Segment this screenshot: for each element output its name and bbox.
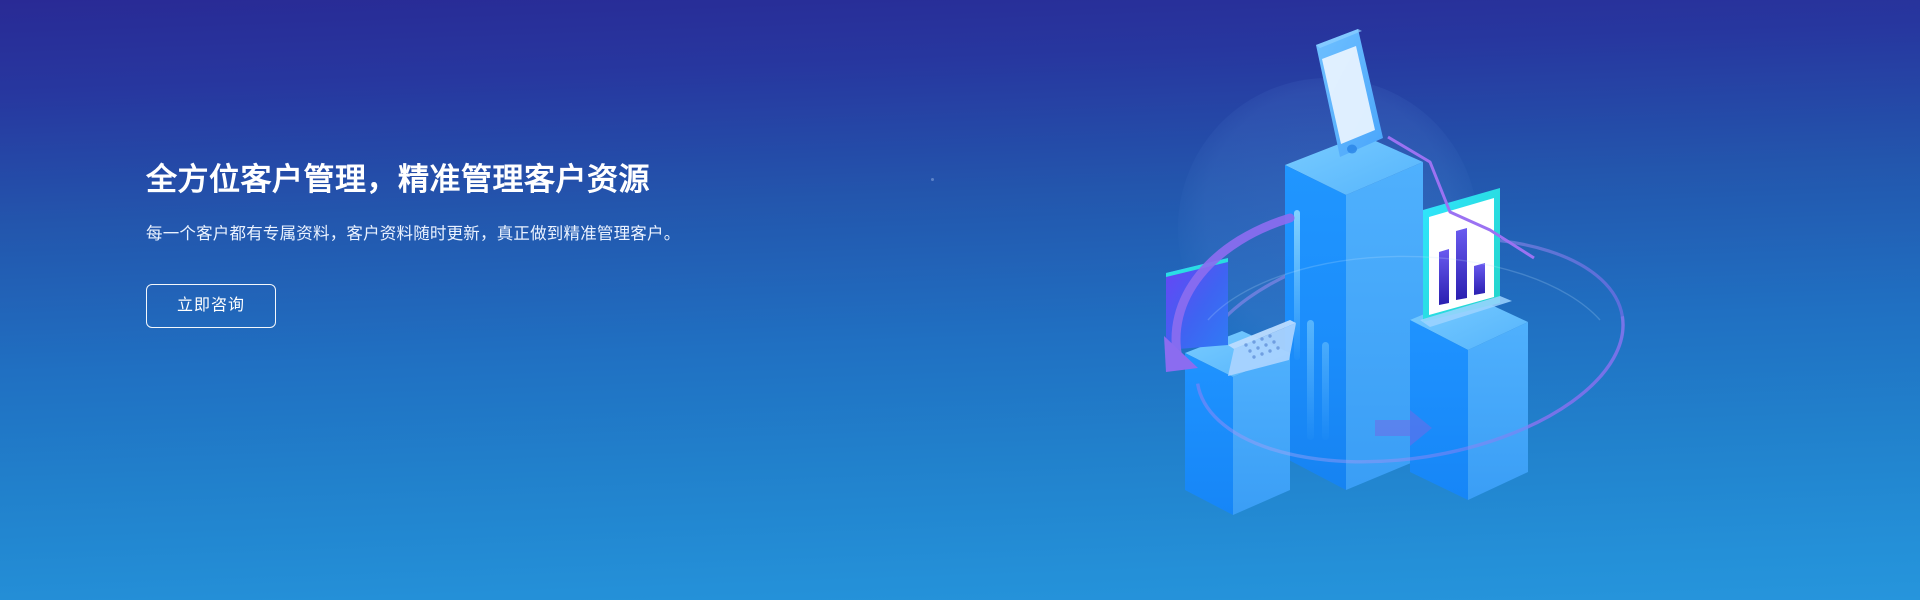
- banner-headline: 全方位客户管理，精准管理客户资源: [146, 160, 786, 199]
- background-speck-decoration: [931, 178, 934, 181]
- tablet-device: [1316, 29, 1383, 157]
- center-tall-pillar: [1285, 135, 1423, 490]
- consult-now-button[interactable]: 立即咨询: [146, 284, 276, 328]
- hero-illustration: [1130, 20, 1690, 580]
- banner-copy: 全方位客户管理，精准管理客户资源 每一个客户都有专属资料，客户资料随时更新，真正…: [146, 160, 786, 328]
- banner-subcopy: 每一个客户都有专属资料，客户资料随时更新，真正做到精准管理客户。: [146, 221, 736, 248]
- right-pillar: [1410, 295, 1528, 500]
- hero-banner: 全方位客户管理，精准管理客户资源 每一个客户都有专属资料，客户资料随时更新，真正…: [0, 0, 1920, 600]
